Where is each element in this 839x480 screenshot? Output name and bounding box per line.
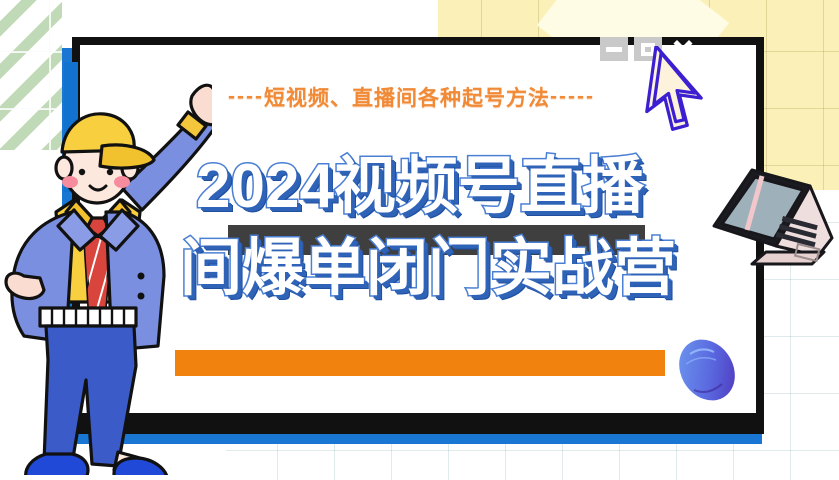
presenter-character-illustration xyxy=(2,60,212,475)
subtitle-text: 短视频、直播间各种起号方法 xyxy=(264,82,550,112)
minimize-icon xyxy=(606,47,622,52)
laptop-illustration xyxy=(700,160,835,268)
orange-accent-bar xyxy=(175,350,665,376)
subtitle-suffix-dashes: ----- xyxy=(550,85,595,109)
minimize-button[interactable] xyxy=(600,37,628,61)
subtitle-prefix-dashes: ---- xyxy=(228,85,264,109)
computer-mouse-illustration xyxy=(672,334,742,406)
poster-canvas: ---- 短视频、直播间各种起号方法 ----- 2024视频号直播 间爆单闭门… xyxy=(0,0,839,480)
subtitle: ---- 短视频、直播间各种起号方法 ----- xyxy=(228,82,668,112)
dark-accent-bar xyxy=(228,225,645,255)
